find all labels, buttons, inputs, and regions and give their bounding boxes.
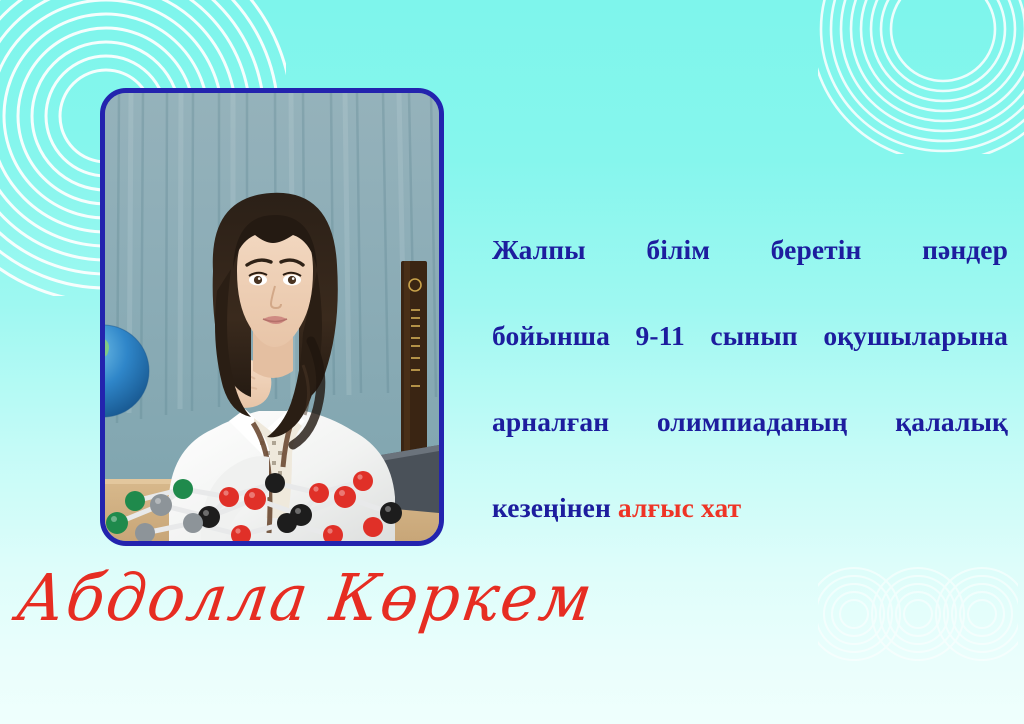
concentric-rings-bottom-right-icon: [818, 562, 1018, 690]
portrait-photo: [105, 93, 439, 541]
message-line-2: бойынша 9-11 сынып оқушыларына: [450, 314, 1008, 400]
message-line-1: Жалпы білім беретін пәндер: [450, 228, 1008, 314]
message-line-3: арналған олимпиаданың қалалық: [450, 400, 1008, 486]
message-line-4: кезеңінен алғыс хат: [450, 486, 1008, 529]
concentric-rings-top-right-icon: [818, 0, 1024, 154]
message-text: Жалпы білім беретін пәндер бойынша 9-11 …: [450, 228, 1008, 529]
signature-name: Абдолла Көркем: [12, 558, 543, 637]
portrait-photo-frame: [100, 88, 444, 546]
message-line-4-text: кезеңінен: [492, 492, 618, 523]
certificate-slide: Жалпы білім беретін пәндер бойынша 9-11 …: [0, 0, 1024, 724]
message-accent-text: алғыс хат: [618, 492, 741, 523]
